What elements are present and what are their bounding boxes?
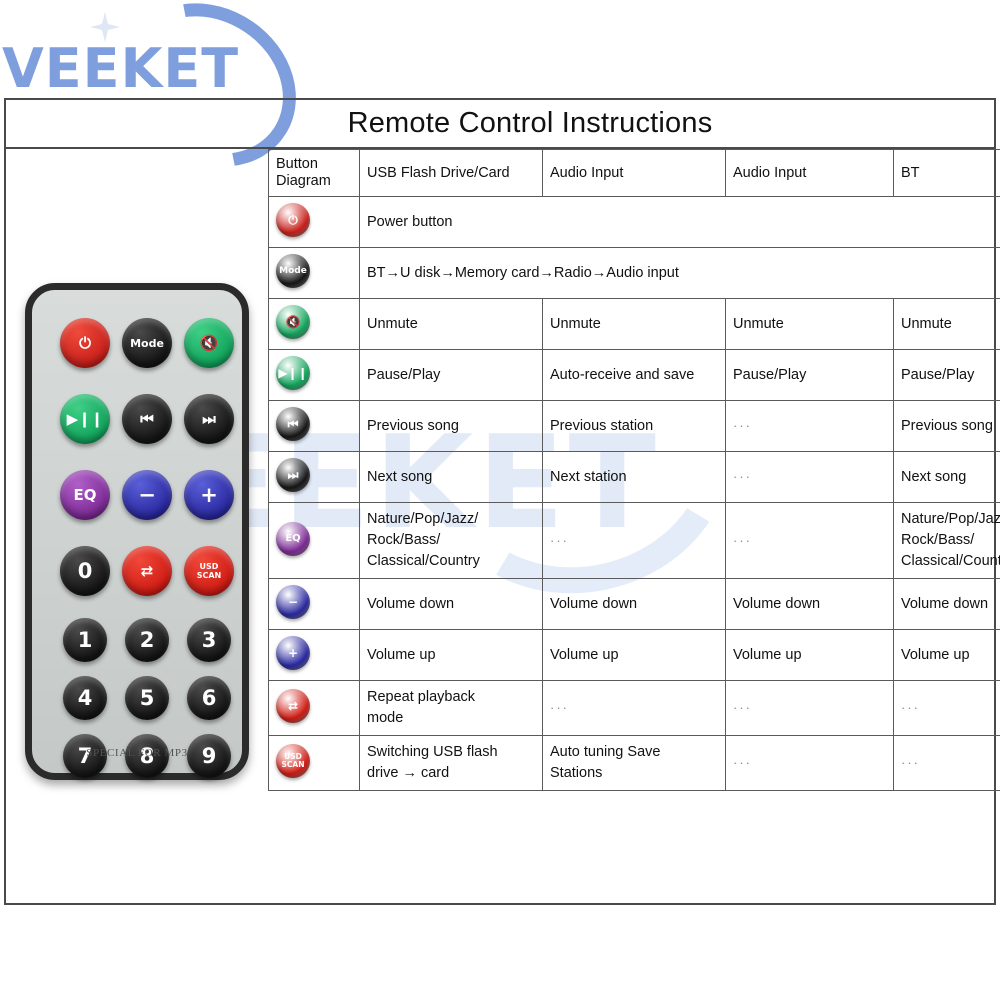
digit-5-button-label: 5 (140, 688, 155, 709)
cell-description: Previous song (360, 401, 543, 452)
cell-description: Repeat playbackmode (360, 681, 543, 736)
table-row: ModeBT→U disk→Memory card→Radio→Audio in… (269, 248, 1000, 299)
volume-up-icon: + (276, 636, 310, 670)
repeat-icon: ⇄ (276, 689, 310, 723)
table-row: 🔇UnmuteUnmuteUnmuteUnmute (269, 299, 1000, 350)
cell-description: Previous song (894, 401, 1000, 452)
header-button-diagram-line2: Diagram (276, 173, 352, 190)
table-header-row: Button Diagram USB Flash Drive/Card Audi… (269, 150, 1000, 197)
usd-scan-icon-glyph: USDSCAN (276, 744, 310, 778)
cell-description: Volume down (543, 579, 726, 630)
table-row: +Volume upVolume upVolume upVolume up (269, 630, 1000, 681)
volume-up-icon-glyph: + (276, 636, 310, 670)
cell-button-diagram: ⏮ (269, 401, 360, 452)
cell-description: Volume down (360, 579, 543, 630)
cell-line: Nature/Pop/Jazz/ (901, 509, 1000, 530)
table-row: ⏮Previous songPrevious station···Previou… (269, 401, 1000, 452)
volume-down-icon: − (276, 585, 310, 619)
mode-button-label: Mode (130, 338, 164, 349)
cell-button-diagram: ⏭ (269, 452, 360, 503)
eq-button-label: EQ (74, 488, 97, 503)
cell-description: Pause/Play (360, 350, 543, 401)
power-icon-glyph: ⏻ (276, 203, 310, 237)
power-button-label: ⏻ (79, 336, 91, 351)
next-track-button-label: ⏭ (202, 412, 216, 427)
table-row: USDSCANSwitching USB flashdrive → cardAu… (269, 736, 1000, 791)
cell-description: Unmute (543, 299, 726, 350)
eq-icon: EQ (276, 522, 310, 556)
table-row: −Volume downVolume downVolume downVolume… (269, 579, 1000, 630)
cell-description: ··· (894, 736, 1000, 791)
next-track-icon-glyph: ⏭ (276, 458, 310, 492)
table-row: EQNature/Pop/Jazz/Rock/Bass/Classical/Co… (269, 503, 1000, 579)
cell-button-diagram: + (269, 630, 360, 681)
remote-footer-label: SPECIAL FOR MP3 (32, 747, 242, 759)
cell-description: ··· (726, 452, 894, 503)
cell-button-diagram: USDSCAN (269, 736, 360, 791)
play-pause-button[interactable]: ▶❙❙ (60, 394, 110, 444)
power-button[interactable]: ⏻ (60, 318, 110, 368)
cell-button-diagram: Mode (269, 248, 360, 299)
play-pause-icon: ▶❙❙ (276, 356, 310, 390)
cell-description: ··· (726, 503, 894, 579)
cell-description: ··· (894, 681, 1000, 736)
mute-button-label: 🔇 (200, 336, 219, 351)
cell-line: Classical/Country (367, 551, 535, 572)
next-track-icon: ⏭ (276, 458, 310, 492)
cell-button-diagram: − (269, 579, 360, 630)
cell-description: ··· (543, 503, 726, 579)
table-row: ⇄Repeat playbackmode········· (269, 681, 1000, 736)
power-icon: ⏻ (276, 203, 310, 237)
ellipsis-placeholder: ··· (733, 533, 752, 548)
title-band: Remote Control Instructions (4, 98, 996, 149)
ellipsis-placeholder: ··· (733, 700, 752, 715)
table-body: ⏻Power buttonModeBT→U disk→Memory card→R… (269, 197, 1000, 791)
cell-line: drive → card (367, 763, 535, 784)
cell-line: Rock/Bass/ (367, 530, 535, 551)
usd-scan-button[interactable]: USDSCAN (184, 546, 234, 596)
cell-line: Nature/Pop/Jazz/ (367, 509, 535, 530)
digit-1-button-label: 1 (78, 630, 93, 651)
cell-description: Nature/Pop/Jazz/Rock/Bass/Classical/Coun… (360, 503, 543, 579)
cell-description: Pause/Play (894, 350, 1000, 401)
cell-description: Next song (894, 452, 1000, 503)
header-bt: BT (894, 150, 1000, 197)
table-row: ⏭Next songNext station···Next song (269, 452, 1000, 503)
previous-track-icon: ⏮ (276, 407, 310, 441)
ellipsis-placeholder: ··· (733, 469, 752, 484)
digit-2-button[interactable]: 2 (125, 618, 169, 662)
cell-spanning-description: Power button (360, 197, 1000, 248)
digit-4-button[interactable]: 4 (63, 676, 107, 720)
cell-line: Repeat playback (367, 687, 535, 708)
page-title: Remote Control Instructions (4, 98, 996, 149)
repeat-button[interactable]: ⇄ (122, 546, 172, 596)
repeat-button-label: ⇄ (141, 564, 154, 579)
previous-track-icon-glyph: ⏮ (276, 407, 310, 441)
cell-line: Rock/Bass/ (901, 530, 1000, 551)
header-button-diagram-line1: Button (276, 156, 352, 173)
cell-description: Volume down (726, 579, 894, 630)
cell-description: Switching USB flashdrive → card (360, 736, 543, 791)
ellipsis-placeholder: ··· (550, 533, 569, 548)
cell-description: Previous station (543, 401, 726, 452)
next-track-button[interactable]: ⏭ (184, 394, 234, 444)
cell-line: Switching USB flash (367, 742, 535, 763)
digit-3-button[interactable]: 3 (187, 618, 231, 662)
cell-description: Volume up (360, 630, 543, 681)
volume-up-button-label: + (200, 485, 218, 506)
cell-description: Volume up (543, 630, 726, 681)
mode-icon-glyph: Mode (276, 254, 310, 288)
usd-scan-button-label: USDSCAN (197, 562, 222, 580)
digit-4-button-label: 4 (78, 688, 93, 709)
remote-control-device: ⏻Mode🔇▶❙❙⏮⏭EQ−+0⇄USDSCAN123456789 SPECIA… (25, 283, 249, 780)
table-row: ⏻Power button (269, 197, 1000, 248)
cell-button-diagram: EQ (269, 503, 360, 579)
cell-description: ··· (543, 681, 726, 736)
cell-description: Volume up (726, 630, 894, 681)
usd-scan-icon: USDSCAN (276, 744, 310, 778)
cell-line: Classical/Country (901, 551, 1000, 572)
cell-button-diagram: ⏻ (269, 197, 360, 248)
page-canvas: VEEKET VEEKET Remote Control Instruction… (0, 0, 1000, 1000)
ellipsis-placeholder: ··· (733, 418, 752, 433)
previous-track-button[interactable]: ⏮ (122, 394, 172, 444)
cell-button-diagram: 🔇 (269, 299, 360, 350)
cell-description: Volume up (894, 630, 1000, 681)
header-button-diagram: Button Diagram (269, 150, 360, 197)
volume-up-button[interactable]: + (184, 470, 234, 520)
digit-0-button-label: 0 (78, 561, 93, 582)
cell-description: Next song (360, 452, 543, 503)
eq-button[interactable]: EQ (60, 470, 110, 520)
volume-down-icon-glyph: − (276, 585, 310, 619)
play-pause-button-label: ▶❙❙ (67, 412, 104, 427)
cell-description: Next station (543, 452, 726, 503)
cell-description: Volume down (894, 579, 1000, 630)
mute-button[interactable]: 🔇 (184, 318, 234, 368)
digit-2-button-label: 2 (140, 630, 155, 651)
repeat-icon-glyph: ⇄ (276, 689, 310, 723)
header-audio-input-2: Audio Input (726, 150, 894, 197)
digit-3-button-label: 3 (202, 630, 217, 651)
play-pause-icon-glyph: ▶❙❙ (276, 356, 310, 390)
ellipsis-placeholder: ··· (733, 755, 752, 770)
cell-button-diagram: ▶❙❙ (269, 350, 360, 401)
cell-line: Auto tuning Save (550, 742, 718, 763)
header-usb-flash-drive-card: USB Flash Drive/Card (360, 150, 543, 197)
volume-down-button-label: − (138, 485, 156, 506)
previous-track-button-label: ⏮ (140, 412, 154, 427)
remote-diagram-cell: ⏻Mode🔇▶❙❙⏮⏭EQ−+0⇄USDSCAN123456789 SPECIA… (6, 150, 268, 903)
cell-description: Unmute (894, 299, 1000, 350)
ellipsis-placeholder: ··· (550, 700, 569, 715)
brand-logo: VEEKET (0, 0, 300, 100)
digit-1-button[interactable]: 1 (63, 618, 107, 662)
eq-icon-glyph: EQ (276, 522, 310, 556)
cell-description: Auto tuning SaveStations (543, 736, 726, 791)
instructions-table: Button Diagram USB Flash Drive/Card Audi… (268, 149, 1000, 791)
cell-description: Auto-receive and save (543, 350, 726, 401)
cell-button-diagram: ⇄ (269, 681, 360, 736)
cell-description: ··· (726, 681, 894, 736)
volume-down-button[interactable]: − (122, 470, 172, 520)
digit-5-button[interactable]: 5 (125, 676, 169, 720)
table-row: ▶❙❙Pause/PlayAuto-receive and savePause/… (269, 350, 1000, 401)
logo-wordmark: VEEKET (2, 42, 239, 96)
digit-0-button[interactable]: 0 (60, 546, 110, 596)
cell-description: Unmute (360, 299, 543, 350)
digit-6-button[interactable]: 6 (187, 676, 231, 720)
cell-description: Unmute (726, 299, 894, 350)
digit-6-button-label: 6 (202, 688, 217, 709)
mode-button[interactable]: Mode (122, 318, 172, 368)
cell-line: mode (367, 708, 535, 729)
cell-spanning-description: BT→U disk→Memory card→Radio→Audio input (360, 248, 1000, 299)
ellipsis-placeholder: ··· (901, 700, 920, 715)
cell-description: Nature/Pop/Jazz/Rock/Bass/Classical/Coun… (894, 503, 1000, 579)
cell-description: ··· (726, 401, 894, 452)
cell-description: Pause/Play (726, 350, 894, 401)
ellipsis-placeholder: ··· (901, 755, 920, 770)
cell-line: Stations (550, 763, 718, 784)
cell-description: ··· (726, 736, 894, 791)
header-audio-input-1: Audio Input (543, 150, 726, 197)
mute-icon: 🔇 (276, 305, 310, 339)
mode-icon: Mode (276, 254, 310, 288)
mute-icon-glyph: 🔇 (276, 305, 310, 339)
remote-button-pad: ⏻Mode🔇▶❙❙⏮⏭EQ−+0⇄USDSCAN123456789 (32, 290, 242, 773)
